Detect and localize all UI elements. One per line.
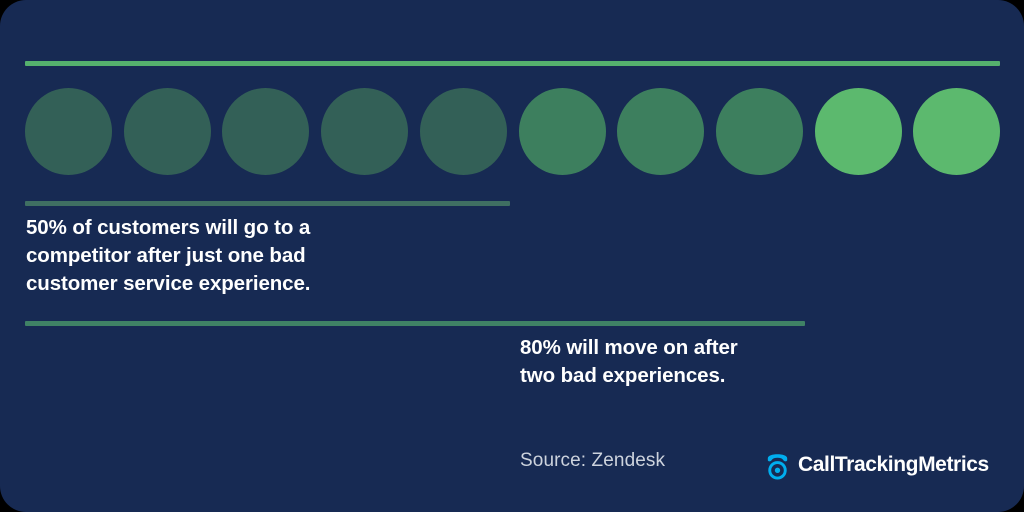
stat-circle-6	[519, 88, 606, 175]
statistic-line: competitor after just one bad	[26, 242, 426, 270]
statistic-text-secondary: 80% will move on after two bad experienc…	[520, 334, 840, 390]
stat-circle-3	[222, 88, 309, 175]
stat-circle-2	[124, 88, 211, 175]
source-attribution: Source: Zendesk	[520, 450, 665, 472]
statistic-line: two bad experiences.	[520, 362, 840, 390]
brand-logo-wordmark: CallTrackingMetrics	[798, 453, 989, 477]
brand-logo: CallTrackingMetrics	[762, 449, 989, 480]
stat-circle-1	[25, 88, 112, 175]
stat-circle-9	[815, 88, 902, 175]
icon-array-chart	[25, 88, 1000, 176]
statistic-line: 80% will move on after	[520, 334, 840, 362]
stat-circle-5	[420, 88, 507, 175]
stat-circle-8	[716, 88, 803, 175]
divider-rule-top	[25, 61, 1000, 66]
statistic-line: 50% of customers will go to a	[26, 214, 426, 242]
statistic-text-primary: 50% of customers will go to a competitor…	[26, 214, 426, 298]
divider-rule-middle	[25, 201, 510, 206]
phone-target-icon	[762, 449, 793, 480]
stat-circle-10	[913, 88, 1000, 175]
stat-circle-7	[617, 88, 704, 175]
stat-circle-4	[321, 88, 408, 175]
infographic-card: 50% of customers will go to a competitor…	[0, 0, 1024, 512]
divider-rule-lower	[25, 321, 805, 326]
statistic-line: customer service experience.	[26, 270, 426, 298]
